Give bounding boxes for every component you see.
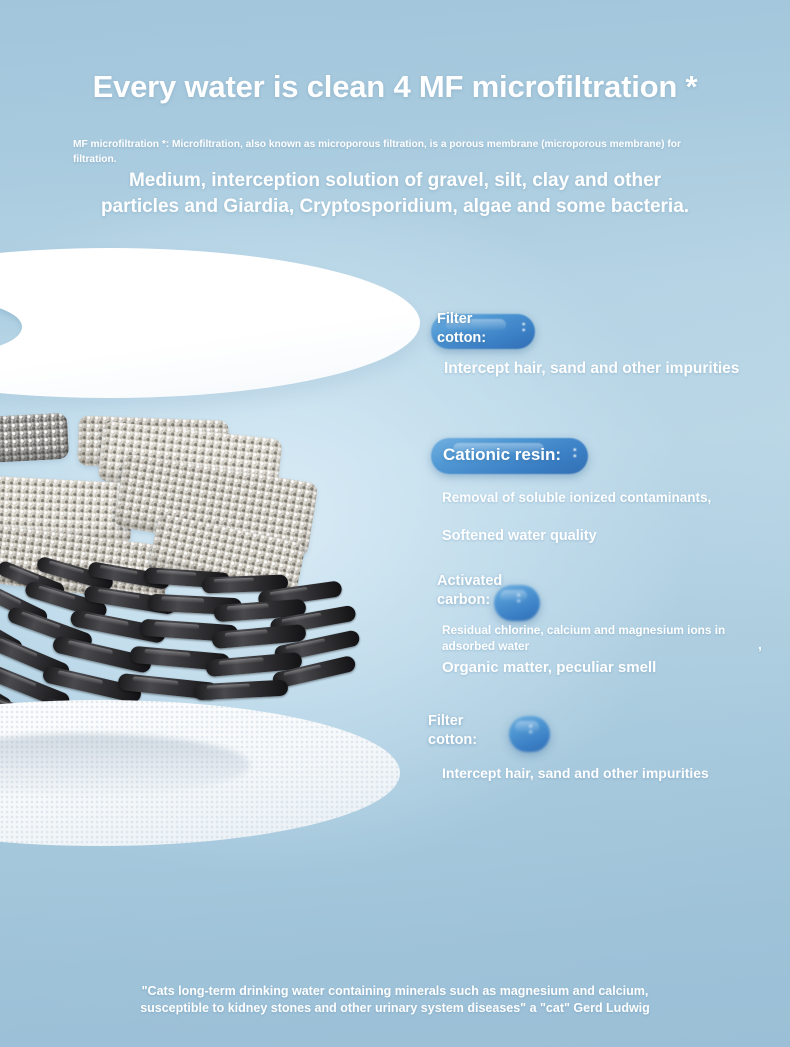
microfiltration-note: MF microfiltration *: Microfiltration, a…: [73, 138, 687, 167]
subtitle-line-2: particles and Giardia, Cryptosporidium, …: [0, 194, 790, 220]
disc-top-face: [0, 248, 420, 398]
callout-description: Intercept hair, sand and other impuritie…: [444, 358, 744, 379]
badge-filter-cotton-top: : Filter cotton:: [437, 310, 486, 348]
callout-description: Intercept hair, sand and other impuritie…: [442, 764, 772, 783]
footer-quote: "Cats long-term drinking water containin…: [0, 983, 790, 1017]
badge-activated-carbon: : Activated carbon:: [437, 572, 502, 610]
badge-filter-cotton-bottom: : Filter cotton:: [428, 712, 477, 750]
badge-colon-glyph: :: [528, 720, 533, 738]
infographic-page: Every water is clean 4 MF microfiltratio…: [0, 0, 790, 1047]
badge-label: Filter cotton:: [437, 310, 486, 348]
callout-description-primary: Residual chlorine, calcium and magnesium…: [442, 622, 764, 654]
filter-stack-illustration: [0, 248, 440, 888]
page-subtitle: Medium, interception solution of gravel,…: [0, 168, 790, 220]
badge-colon-glyph: :: [516, 589, 521, 607]
callout-filter-cotton-bottom: : Filter cotton: Intercept hair, sand an…: [428, 712, 477, 750]
callout-filter-cotton-top: : Filter cotton: Intercept hair, sand an…: [437, 310, 486, 348]
badge-label: Cationic resin:: [437, 440, 561, 464]
badge-label: Filter cotton:: [428, 712, 477, 750]
layer-filter-cotton-top: [0, 248, 420, 423]
badge-label: Activated carbon:: [437, 572, 502, 610]
badge-colon-glyph: :: [572, 442, 578, 462]
callout-activated-carbon: : Activated carbon: Residual chlorine, c…: [437, 572, 502, 610]
page-title: Every water is clean 4 MF microfiltratio…: [0, 69, 790, 105]
callout-cationic-resin: : Cationic resin: Removal of soluble ion…: [437, 440, 561, 465]
callout-description-secondary: Organic matter, peculiar smell: [442, 658, 722, 678]
badge-cationic-resin: : Cationic resin:: [437, 440, 561, 464]
badge-colon-glyph: :: [521, 318, 526, 336]
stray-comma-mark: ,: [758, 636, 762, 652]
resin-segment: [0, 413, 69, 466]
subtitle-line-1: Medium, interception solution of gravel,…: [0, 168, 790, 194]
callout-description-primary: Removal of soluble ionized contaminants,: [442, 488, 772, 507]
footer-quote-line-2: susceptible to kidney stones and other u…: [0, 1000, 790, 1017]
callout-description-secondary: Softened water quality: [442, 527, 772, 546]
footer-quote-line-1: "Cats long-term drinking water containin…: [0, 983, 790, 1000]
layer-filter-cotton-bottom: [0, 700, 400, 900]
